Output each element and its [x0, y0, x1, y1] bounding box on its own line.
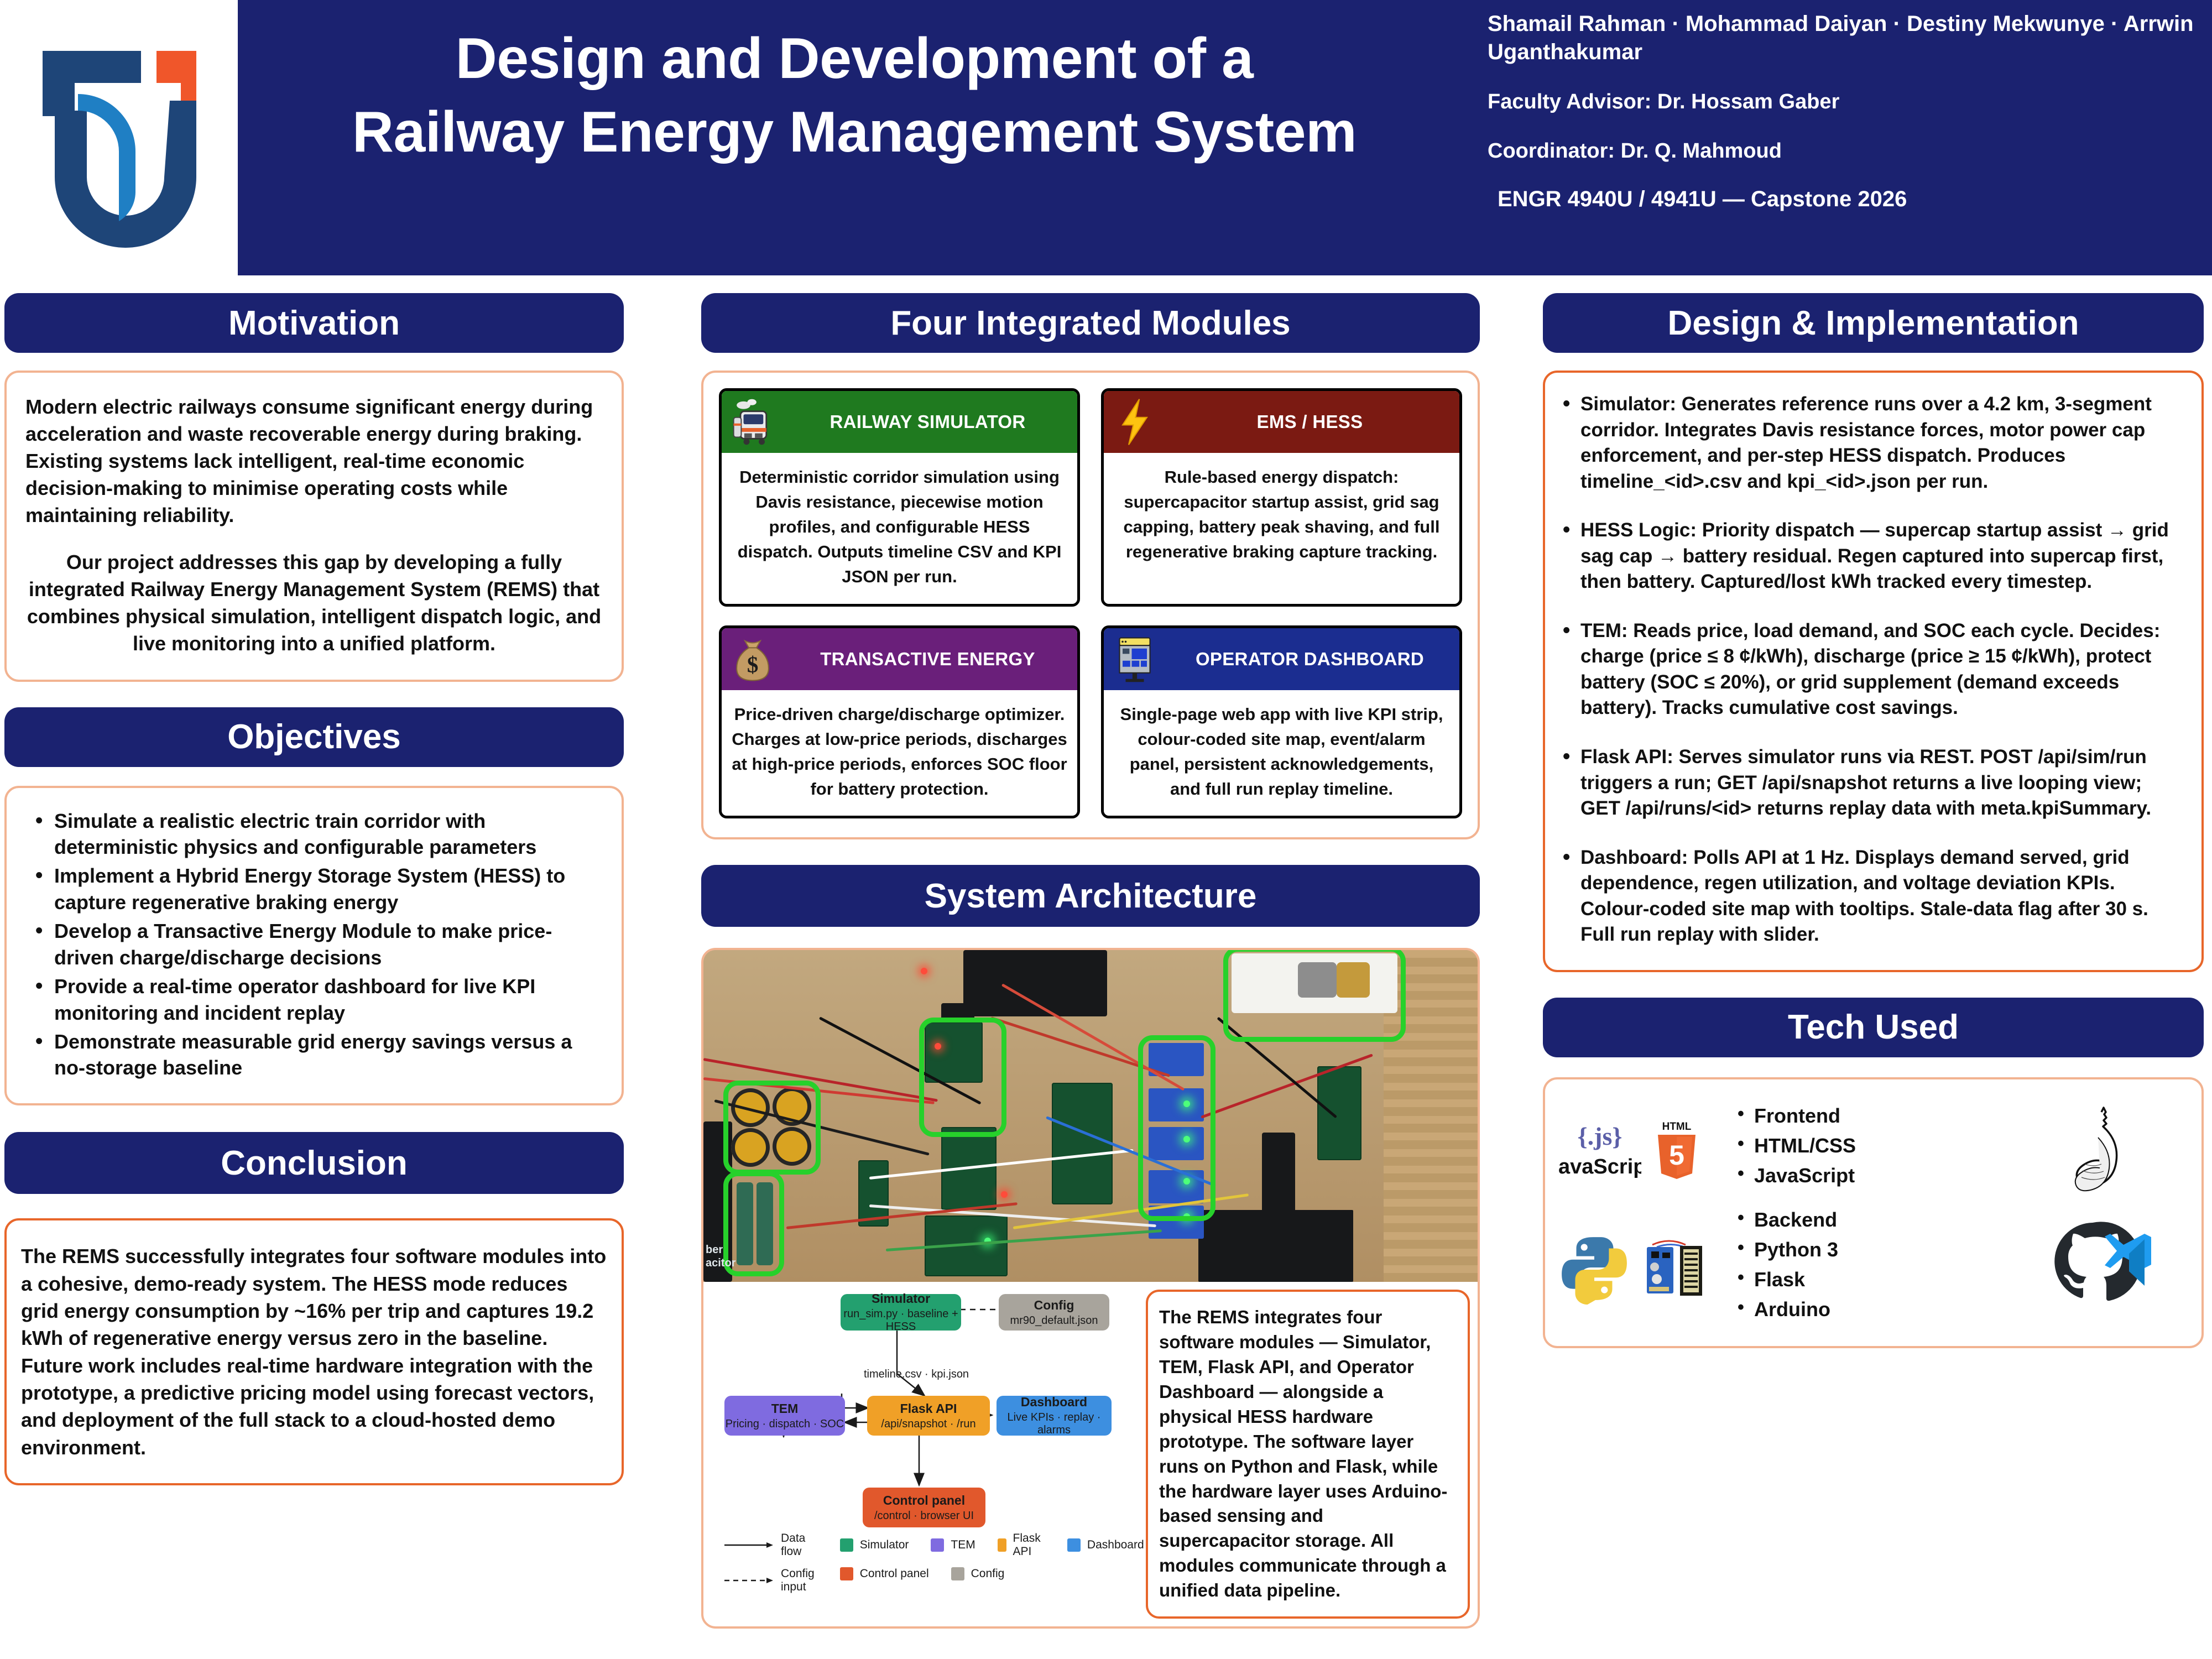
module-text: Single-page web app with live KPI strip,… [1114, 702, 1449, 802]
tech-card: {.js} JavaScript HTML 5 [1543, 1077, 2204, 1348]
legend-item-config-input: Config input [723, 1567, 815, 1594]
node-title: Config [1034, 1298, 1074, 1313]
legend-label: Control panel [860, 1567, 929, 1580]
legend-label: TEM [951, 1538, 975, 1552]
tech-backend-list: Backend Python 3 Flask Arduino [1734, 1205, 2022, 1324]
module-card-operator-dashboard: OPERATOR DASHBOARD Single-page web app w… [1101, 625, 1462, 819]
module-text: Deterministic corridor simulation using … [732, 465, 1067, 589]
node-subtitle: Live KPIs · replay · alarms [997, 1411, 1112, 1437]
header-meta: Shamail Rahman · Mohammad Daiyan · Desti… [1488, 10, 2201, 212]
javascript-logo-icon: {.js} JavaScript [1558, 1118, 1641, 1185]
svg-text:$: $ [747, 651, 759, 677]
conclusion-card: The REMS successfully integrates four so… [4, 1218, 624, 1485]
architecture-body: Simulator run_sim.py · baseline + HESS C… [703, 1282, 1478, 1626]
color-swatch [1067, 1538, 1081, 1552]
architecture-diagram: Simulator run_sim.py · baseline + HESS C… [703, 1282, 1140, 1626]
node-title: Dashboard [1021, 1395, 1087, 1410]
color-swatch [840, 1567, 853, 1580]
middle-column: Four Integrated Modules [701, 293, 1480, 1629]
tech-logos-right [2022, 1094, 2188, 1332]
list-item: Flask [1734, 1265, 2022, 1295]
module-header: OPERATOR DASHBOARD [1104, 628, 1459, 690]
module-title: TRANSACTIVE ENERGY [785, 649, 1071, 670]
arch-node-simulator: Simulator run_sim.py · baseline + HESS [841, 1294, 961, 1331]
arch-node-flask-api: Flask API /api/snapshot · /run [867, 1396, 990, 1436]
lightning-bolt-icon [1110, 398, 1159, 446]
title-line-2: Railway Energy Management System [260, 96, 1449, 169]
objectives-list: Simulate a realistic electric train corr… [31, 808, 597, 1082]
section-header-system-architecture: System Architecture [701, 865, 1480, 927]
color-swatch [931, 1538, 944, 1552]
list-item: Simulator: Generates reference runs over… [1558, 392, 2185, 494]
list-item: Python 3 [1734, 1235, 2022, 1265]
objectives-card: Simulate a realistic electric train corr… [4, 786, 624, 1106]
design-card: Simulator: Generates reference runs over… [1543, 371, 2204, 972]
tech-logo-row-frontend: {.js} JavaScript HTML 5 [1558, 1118, 1724, 1185]
node-subtitle: mr90_default.json [1010, 1314, 1098, 1327]
module-card-ems-hess: EMS / HESS Rule-based energy dispatch: s… [1101, 388, 1462, 607]
list-item: Provide a real-time operator dashboard f… [31, 973, 597, 1026]
legend-label: Dashboard [1087, 1538, 1144, 1552]
module-body: Deterministic corridor simulation using … [722, 453, 1077, 604]
conclusion-paragraph-1: The REMS successfully integrates four so… [21, 1243, 607, 1352]
legend-item-tem: TEM [931, 1532, 975, 1558]
list-item: HESS Logic: Priority dispatch — supercap… [1558, 518, 2185, 595]
list-item: Frontend [1734, 1101, 2022, 1131]
tech-logos-left: {.js} JavaScript HTML 5 [1558, 1094, 1724, 1332]
list-item: Arduino [1734, 1295, 2022, 1324]
module-text: Rule-based energy dispatch: supercapacit… [1114, 465, 1449, 565]
python-logo-icon [1558, 1233, 1630, 1307]
legend-label: Config [971, 1567, 1005, 1580]
arch-node-tem: TEM Pricing · dispatch · SOC [724, 1396, 845, 1436]
architecture-description-wrapper: The REMS integrates four software module… [1140, 1282, 1478, 1626]
motivation-card: Modern electric railways consume signifi… [4, 371, 624, 682]
list-item: Flask API: Serves simulator runs via RES… [1558, 744, 2185, 822]
legend-item-config: Config [951, 1567, 1005, 1580]
list-item: Dashboard: Polls API at 1 Hz. Displays d… [1558, 845, 2185, 948]
arch-node-dashboard: Dashboard Live KPIs · replay · alarms [997, 1396, 1112, 1436]
module-title: EMS / HESS [1167, 411, 1453, 432]
github-vscode-logo-icon [2053, 1219, 2158, 1322]
list-item: HTML/CSS [1734, 1131, 2022, 1161]
legend-item-control-panel: Control panel [840, 1567, 929, 1580]
color-swatch [840, 1538, 853, 1552]
left-column: Motivation Modern electric railways cons… [4, 293, 624, 1485]
tech-grid: {.js} JavaScript HTML 5 [1558, 1094, 2188, 1332]
module-body: Rule-based energy dispatch: supercapacit… [1104, 453, 1459, 579]
poster-header: Design and Development of a Railway Ener… [0, 0, 2212, 276]
module-header: $ TRANSACTIVE ENERGY [722, 628, 1077, 690]
section-header-tech-used: Tech Used [1543, 998, 2204, 1057]
architecture-description: The REMS integrates four software module… [1159, 1305, 1457, 1603]
svg-text:HTML: HTML [1662, 1121, 1692, 1133]
legend-label: Flask API [1013, 1532, 1045, 1558]
node-title: Simulator [872, 1291, 930, 1306]
color-swatch [998, 1538, 1006, 1552]
module-body: Price-driven charge/discharge optimizer.… [722, 690, 1077, 816]
poster-root: Design and Development of a Railway Ener… [0, 0, 2212, 1659]
module-body: Single-page web app with live KPI strip,… [1104, 690, 1459, 816]
module-title: OPERATOR DASHBOARD [1167, 649, 1453, 670]
legend-flow-group: Data flow Config input [723, 1532, 815, 1594]
svg-text:5: 5 [1669, 1140, 1684, 1171]
list-item: TEM: Reads price, load demand, and SOC e… [1558, 618, 2185, 721]
legend-label: Config input [781, 1567, 815, 1594]
section-header-objectives: Objectives [4, 707, 624, 767]
module-card-railway-simulator: RAILWAY SIMULATOR Deterministic corridor… [719, 388, 1080, 607]
right-column: Design & Implementation Simulator: Gener… [1543, 293, 2204, 1348]
section-header-motivation: Motivation [4, 293, 624, 353]
section-header-conclusion: Conclusion [4, 1132, 624, 1194]
money-bag-icon: $ [728, 635, 777, 684]
tech-lists: Frontend HTML/CSS JavaScript Backend Pyt… [1724, 1094, 2022, 1332]
modules-card: RAILWAY SIMULATOR Deterministic corridor… [701, 371, 1480, 839]
motivation-paragraph-1: Modern electric railways consume signifi… [25, 394, 603, 529]
list-item: Implement a Hybrid Energy Storage System… [31, 863, 597, 916]
legend-item-data-flow: Data flow [723, 1532, 815, 1558]
soil-moisture-sensor-icon [1640, 1233, 1723, 1307]
edge-label-timeline: timeline.csv · kpi.json [864, 1368, 969, 1381]
module-card-transactive-energy: $ TRANSACTIVE ENERGY Price-driven charge… [719, 625, 1080, 819]
node-title: Flask API [900, 1401, 957, 1416]
module-header: EMS / HESS [1104, 391, 1459, 453]
monitor-dashboard-icon [1110, 635, 1159, 684]
svg-text:{.js}: {.js} [1578, 1122, 1623, 1150]
node-title: Control panel [883, 1493, 965, 1508]
list-item: JavaScript [1734, 1161, 2022, 1191]
architecture-card: beracitor [701, 948, 1480, 1629]
node-title: TEM [771, 1401, 799, 1416]
solid-arrow-icon [723, 1540, 774, 1550]
list-item: Backend [1734, 1205, 2022, 1235]
node-subtitle: run_sim.py · baseline + HESS [841, 1308, 961, 1333]
legend-label: Simulator [860, 1538, 909, 1552]
module-title: RAILWAY SIMULATOR [785, 411, 1071, 432]
list-item: Simulate a realistic electric train corr… [31, 808, 597, 861]
hess-hardware-prototype-photo: beracitor [703, 950, 1478, 1282]
coordinator: Coordinator: Dr. Q. Mahmoud [1488, 138, 2201, 165]
html5-logo-icon: HTML 5 [1651, 1118, 1702, 1185]
node-subtitle: /control · browser UI [874, 1510, 974, 1522]
conclusion-paragraph-2: Future work includes real-time hardware … [21, 1352, 607, 1461]
color-swatch [951, 1567, 964, 1580]
module-header: RAILWAY SIMULATOR [722, 391, 1077, 453]
motivation-paragraph-2: Our project addresses this gap by develo… [25, 549, 603, 658]
legend-label: Data flow [781, 1532, 815, 1558]
design-list: Simulator: Generates reference runs over… [1558, 392, 2185, 948]
node-subtitle: Pricing · dispatch · SOC [726, 1418, 844, 1431]
legend-item-simulator: Simulator [840, 1532, 909, 1558]
list-item: Demonstrate measurable grid energy savin… [31, 1029, 597, 1082]
svg-text:JavaScript: JavaScript [1558, 1155, 1641, 1178]
arch-node-control-panel: Control panel /control · browser UI [863, 1488, 985, 1527]
arch-node-config: Config mr90_default.json [999, 1294, 1109, 1331]
list-item: Develop a Transactive Energy Module to m… [31, 918, 597, 971]
legend-item-dashboard: Dashboard [1067, 1532, 1144, 1558]
legend-item-flask-api: Flask API [998, 1532, 1045, 1558]
module-text: Price-driven charge/discharge optimizer.… [732, 702, 1067, 802]
course-code: ENGR 4940U / 4941U — Capstone 2026 [1488, 187, 2201, 212]
modules-grid: RAILWAY SIMULATOR Deterministic corridor… [719, 388, 1462, 818]
section-header-design-implementation: Design & Implementation [1543, 293, 2204, 353]
tech-frontend-list: Frontend HTML/CSS JavaScript [1734, 1101, 2022, 1191]
author-list: Shamail Rahman · Mohammad Daiyan · Desti… [1488, 10, 2201, 66]
section-header-four-integrated-modules: Four Integrated Modules [701, 293, 1480, 353]
architecture-legend: Data flow Config input [709, 1528, 1135, 1604]
faculty-advisor: Faculty Advisor: Dr. Hossam Gaber [1488, 88, 2201, 116]
ontario-tech-u-logo-icon [17, 6, 227, 271]
train-icon [728, 398, 777, 446]
tech-logo-row-backend [1558, 1233, 1724, 1307]
dashed-arrow-icon [723, 1575, 774, 1585]
title-line-1: Design and Development of a [260, 22, 1449, 96]
flask-logo-icon [2058, 1103, 2152, 1200]
architecture-canvas: Simulator run_sim.py · baseline + HESS C… [709, 1291, 1135, 1528]
node-subtitle: /api/snapshot · /run [881, 1418, 975, 1431]
page-title: Design and Development of a Railway Ener… [260, 22, 1449, 169]
